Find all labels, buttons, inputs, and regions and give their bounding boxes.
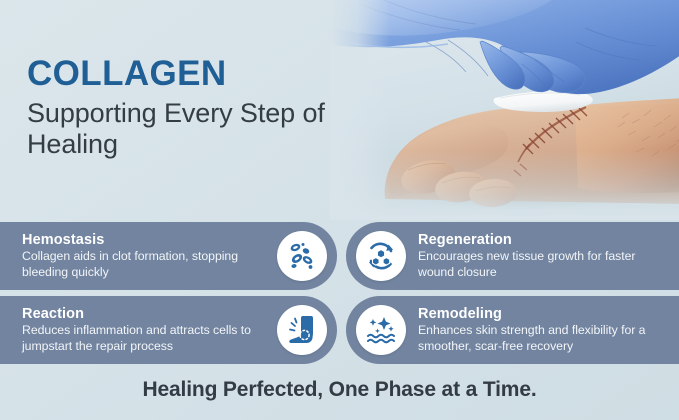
skin-sparkle-icon bbox=[356, 305, 406, 355]
card-description: Reduces inflammation and attracts cells … bbox=[22, 323, 267, 354]
poster-canvas: COLLAGEN Supporting Every Step of Healin… bbox=[0, 0, 679, 420]
wound-care-photo bbox=[330, 0, 679, 216]
card-description: Encourages new tissue growth for faster … bbox=[418, 249, 661, 280]
page-subtitle: Supporting Every Step of Healing bbox=[27, 98, 377, 161]
cell-renewal-cycle-icon bbox=[356, 231, 406, 281]
card-text: Regeneration Encourages new tissue growt… bbox=[418, 232, 661, 280]
headline-block: COLLAGEN Supporting Every Step of Healin… bbox=[27, 56, 377, 161]
blood-platelets-icon bbox=[277, 231, 327, 281]
card-regeneration[interactable]: Regeneration Encourages new tissue growt… bbox=[346, 222, 679, 290]
card-title: Regeneration bbox=[418, 232, 661, 249]
card-title: Reaction bbox=[22, 306, 267, 323]
card-text: Remodeling Enhances skin strength and fl… bbox=[418, 306, 661, 354]
card-hemostasis[interactable]: Hemostasis Collagen aids in clot formati… bbox=[0, 222, 337, 290]
card-row-top: Hemostasis Collagen aids in clot formati… bbox=[0, 222, 679, 290]
card-description: Enhances skin strength and flexibility f… bbox=[418, 323, 661, 354]
card-text: Reaction Reduces inflammation and attrac… bbox=[22, 306, 267, 354]
card-description: Collagen aids in clot formation, stoppin… bbox=[22, 249, 267, 280]
phase-cards: Hemostasis Collagen aids in clot formati… bbox=[0, 222, 679, 368]
card-text: Hemostasis Collagen aids in clot formati… bbox=[22, 232, 267, 280]
inflamed-foot-icon bbox=[277, 305, 327, 355]
card-title: Remodeling bbox=[418, 306, 661, 323]
page-title: COLLAGEN bbox=[27, 56, 377, 91]
card-remodeling[interactable]: Remodeling Enhances skin strength and fl… bbox=[346, 296, 679, 364]
card-title: Hemostasis bbox=[22, 232, 267, 249]
tagline: Healing Perfected, One Phase at a Time. bbox=[0, 378, 679, 402]
card-reaction[interactable]: Reaction Reduces inflammation and attrac… bbox=[0, 296, 337, 364]
card-row-bottom: Reaction Reduces inflammation and attrac… bbox=[0, 296, 679, 364]
